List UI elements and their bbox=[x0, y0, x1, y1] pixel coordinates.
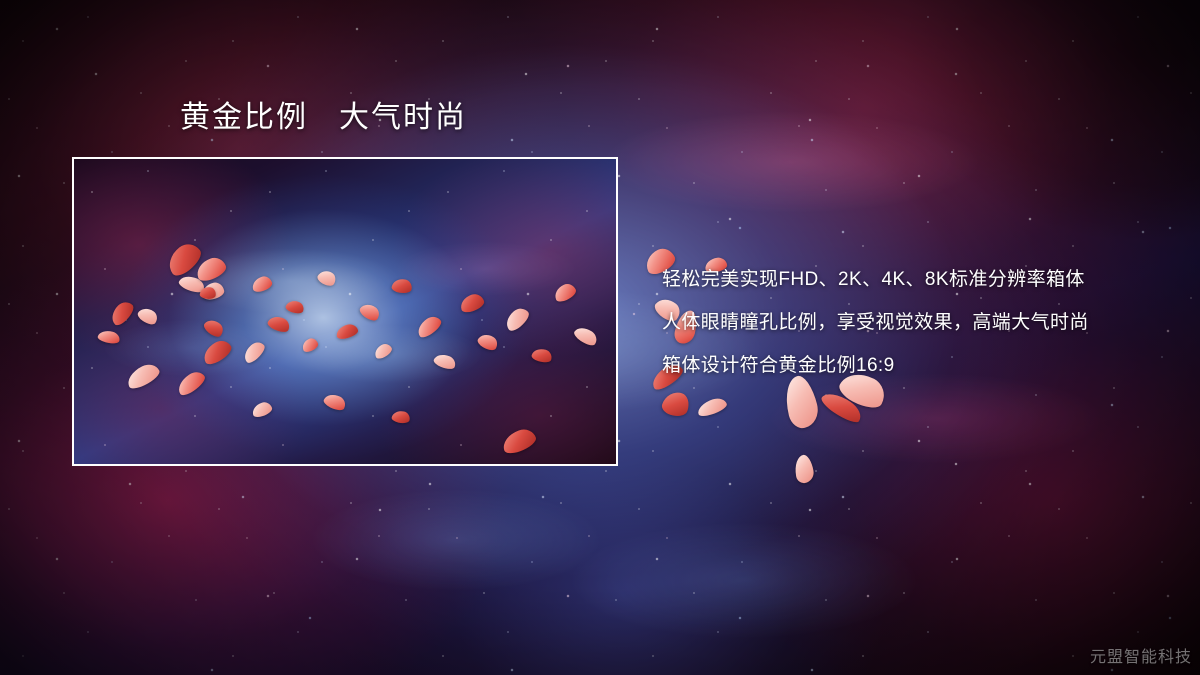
panel-starfield-icon bbox=[74, 159, 616, 464]
watermark-brand: 元盟智能科技 bbox=[1090, 643, 1192, 667]
body-line-2: 人体眼睛瞳孔比例，享受视觉效果，高端大气时尚 bbox=[662, 301, 1162, 344]
framed-image-panel bbox=[72, 157, 618, 466]
petal-decoration bbox=[793, 454, 816, 485]
petal-decoration bbox=[696, 396, 729, 419]
petal-decoration bbox=[660, 389, 692, 420]
petal-decoration bbox=[819, 387, 866, 427]
presentation-slide: 黄金比例 大气时尚 轻松完美实现FHD、2K、4K、8K标准分辨率箱体 人体眼睛… bbox=[0, 0, 1200, 675]
body-line-1: 轻松完美实现FHD、2K、4K、8K标准分辨率箱体 bbox=[662, 258, 1162, 301]
slide-title: 黄金比例 大气时尚 bbox=[180, 100, 467, 136]
body-line-3: 箱体设计符合黄金比例16:9 bbox=[662, 344, 1162, 387]
slide-body-text: 轻松完美实现FHD、2K、4K、8K标准分辨率箱体 人体眼睛瞳孔比例，享受视觉效… bbox=[662, 258, 1162, 387]
